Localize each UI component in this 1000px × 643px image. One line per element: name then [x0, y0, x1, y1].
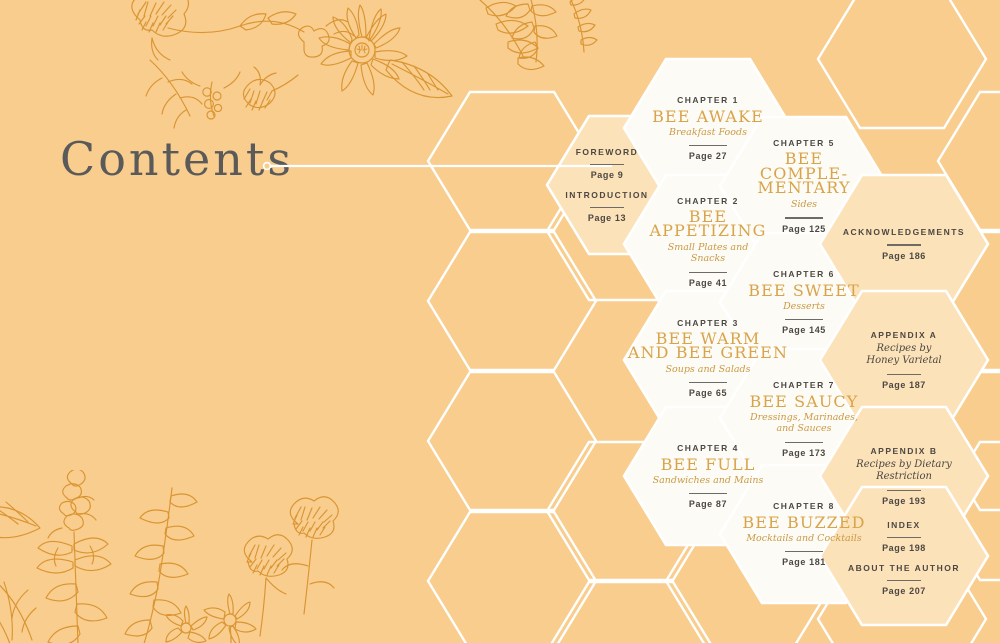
appendix-a-subtitle: Recipes by Honey Varietal	[866, 343, 941, 367]
appendix-a-label: APPENDIX A	[871, 330, 938, 340]
chapter-kicker: CHAPTER 1	[677, 95, 739, 105]
divider-rule	[887, 537, 921, 538]
chapter-subtitle-line: Sides	[791, 199, 817, 211]
foreword-page: Page 9	[591, 170, 624, 180]
appendix-a-page: Page 187	[882, 380, 926, 390]
divider-rule	[887, 374, 921, 375]
chapter-subtitle-line: Desserts	[783, 301, 825, 313]
chapter-page: Page 173	[782, 448, 826, 458]
acknowledgements-entry[interactable]: ACKNOWLEDGEMENTS Page 186	[822, 186, 986, 302]
page-title: Contents	[60, 124, 600, 194]
divider-rule	[887, 244, 921, 245]
divider-rule	[785, 217, 823, 218]
introduction-page: Page 13	[588, 213, 626, 223]
divider-rule	[689, 145, 727, 146]
contents-page: Contents FOREWORD Page 9 INTRODUCTION Pa…	[0, 0, 1000, 643]
chapter-page: Page 125	[782, 224, 826, 234]
chapter-subtitle: Desserts	[783, 301, 825, 313]
divider-rule	[887, 580, 921, 581]
index-page: Page 198	[882, 543, 926, 553]
divider-rule	[887, 490, 921, 491]
page-title-block: Contents	[60, 124, 600, 194]
divider-rule	[590, 207, 624, 208]
index-label: INDEX	[887, 520, 920, 530]
divider-rule	[689, 272, 727, 273]
about-the-author-page: Page 207	[882, 586, 926, 596]
appendix-b-label: APPENDIX B	[871, 446, 938, 456]
chapter-page: Page 41	[689, 278, 727, 288]
appendix-a-subtitle-line: Honey Varietal	[866, 355, 941, 367]
appendix-b-subtitle-line: Recipes by Dietary	[856, 459, 952, 471]
chapter-page: Page 27	[689, 151, 727, 161]
chapter-page: Page 145	[782, 325, 826, 335]
divider-rule	[785, 319, 823, 320]
index-author-entry[interactable]: INDEX Page 198 ABOUT THE AUTHOR Page 207	[820, 498, 988, 618]
divider-rule	[590, 164, 624, 165]
divider-rule	[785, 442, 823, 443]
chapter-subtitle: Sides	[791, 199, 817, 211]
acknowledgements-page: Page 186	[882, 251, 926, 261]
acknowledgements-label: ACKNOWLEDGEMENTS	[843, 227, 965, 237]
about-the-author-label: ABOUT THE AUTHOR	[848, 563, 960, 573]
appendix-a-entry[interactable]: APPENDIX A Recipes by Honey Varietal Pag…	[824, 302, 984, 418]
chapter-kicker: CHAPTER 5	[773, 138, 835, 148]
divider-rule	[785, 551, 823, 552]
appendix-b-subtitle: Recipes by Dietary Restriction	[856, 459, 952, 483]
appendix-a-subtitle-line: Recipes by	[866, 343, 941, 355]
appendix-b-subtitle-line: Restriction	[856, 471, 952, 483]
